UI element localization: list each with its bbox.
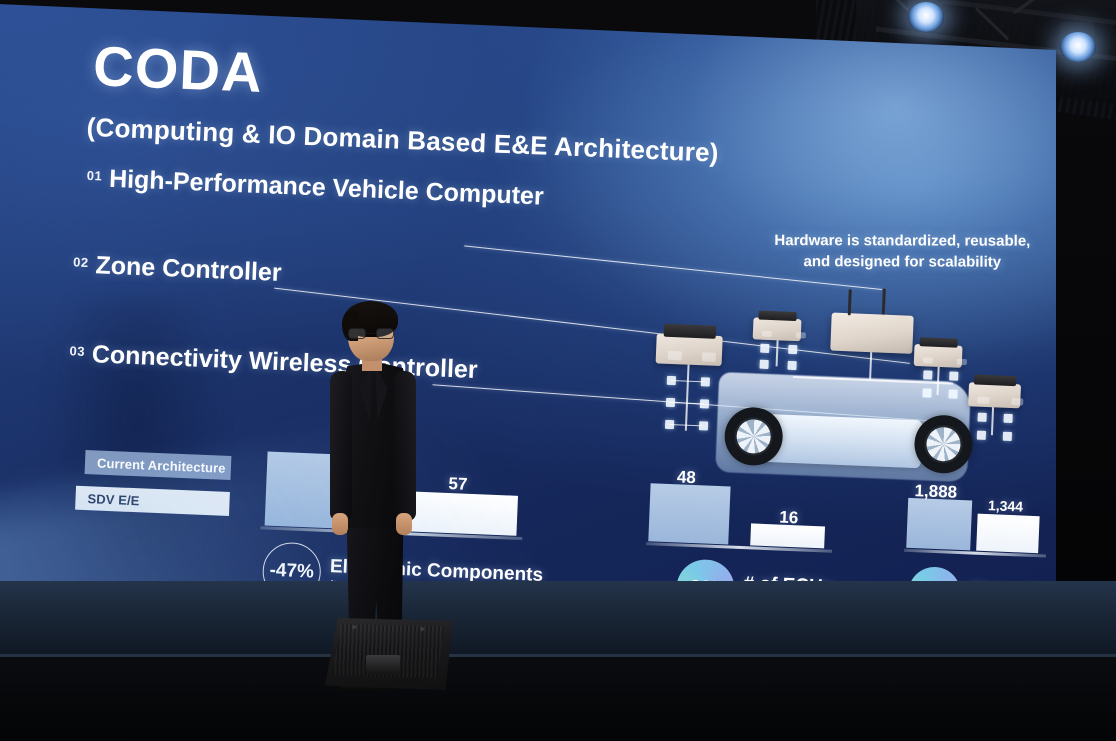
bar-current-architecture <box>906 498 972 551</box>
stage-front-apron <box>0 657 1116 741</box>
stage-light-1 <box>908 2 944 32</box>
bar-value-current: 1,888 <box>914 481 957 503</box>
stage-monitor-screw <box>352 625 356 629</box>
io-node <box>922 388 931 397</box>
io-node <box>977 431 986 440</box>
io-node <box>787 361 796 370</box>
io-node <box>949 371 958 380</box>
feature-label-02: Zone Controller <box>95 251 282 287</box>
feature-label-01: High-Performance Vehicle Computer <box>109 165 545 211</box>
presenter-arm-left <box>330 371 352 521</box>
bar-sdv-ee <box>976 514 1039 554</box>
io-node <box>977 413 986 422</box>
presenter-hand-right <box>396 513 412 535</box>
stage-scene: CODA (Computing & IO Domain Based E&E Ar… <box>0 0 1116 741</box>
feature-number-01: 01 <box>86 168 102 184</box>
feature-number-03: 03 <box>69 343 85 359</box>
stage-monitor-connector-panel <box>366 655 400 674</box>
gateway-trunk-wire <box>869 352 872 380</box>
io-node <box>1003 432 1012 441</box>
metric-wiring-harness: 1,888 1,344 -28% Wiring Harness (# of wi… <box>904 472 1057 558</box>
feature-item-01: 01High-Performance Vehicle Computer <box>86 164 544 212</box>
presenter-glasses <box>348 328 394 339</box>
io-node <box>759 360 768 369</box>
presentation-screen: CODA (Computing & IO Domain Based E&E Ar… <box>0 0 1064 620</box>
bar-chart-wiring-harness: 1,888 1,344 <box>904 472 1057 558</box>
slide-subtitle: (Computing & IO Domain Based E&E Archite… <box>86 112 719 169</box>
node-trunk-farright <box>991 407 994 435</box>
zone-controller-top-left <box>753 317 802 341</box>
feature-number-02: 02 <box>73 254 89 270</box>
slide-title: CODA <box>92 38 264 101</box>
node-trunk-topleft <box>776 340 779 366</box>
stage-light-2 <box>1060 32 1096 62</box>
high-performance-vehicle-computer <box>830 313 913 354</box>
antenna-left <box>848 289 852 315</box>
connectivity-wireless-controller <box>968 382 1021 408</box>
hardware-note: Hardware is standardized, reusable, and … <box>772 231 1032 273</box>
zone-controller-rear-right <box>914 344 963 368</box>
feature-item-02: 02Zone Controller <box>73 250 283 288</box>
bar-value-sdv: 1,344 <box>988 497 1024 514</box>
io-node <box>1003 414 1012 423</box>
bar-value-sdv: 16 <box>779 508 799 529</box>
stage-monitor-screw <box>420 627 424 631</box>
io-node <box>923 370 932 379</box>
presenter-hand-left <box>332 513 348 535</box>
antenna-right <box>882 289 886 315</box>
io-node <box>788 345 797 354</box>
io-node <box>948 389 957 398</box>
io-node <box>760 344 769 353</box>
presenter-arm-right <box>394 371 416 521</box>
